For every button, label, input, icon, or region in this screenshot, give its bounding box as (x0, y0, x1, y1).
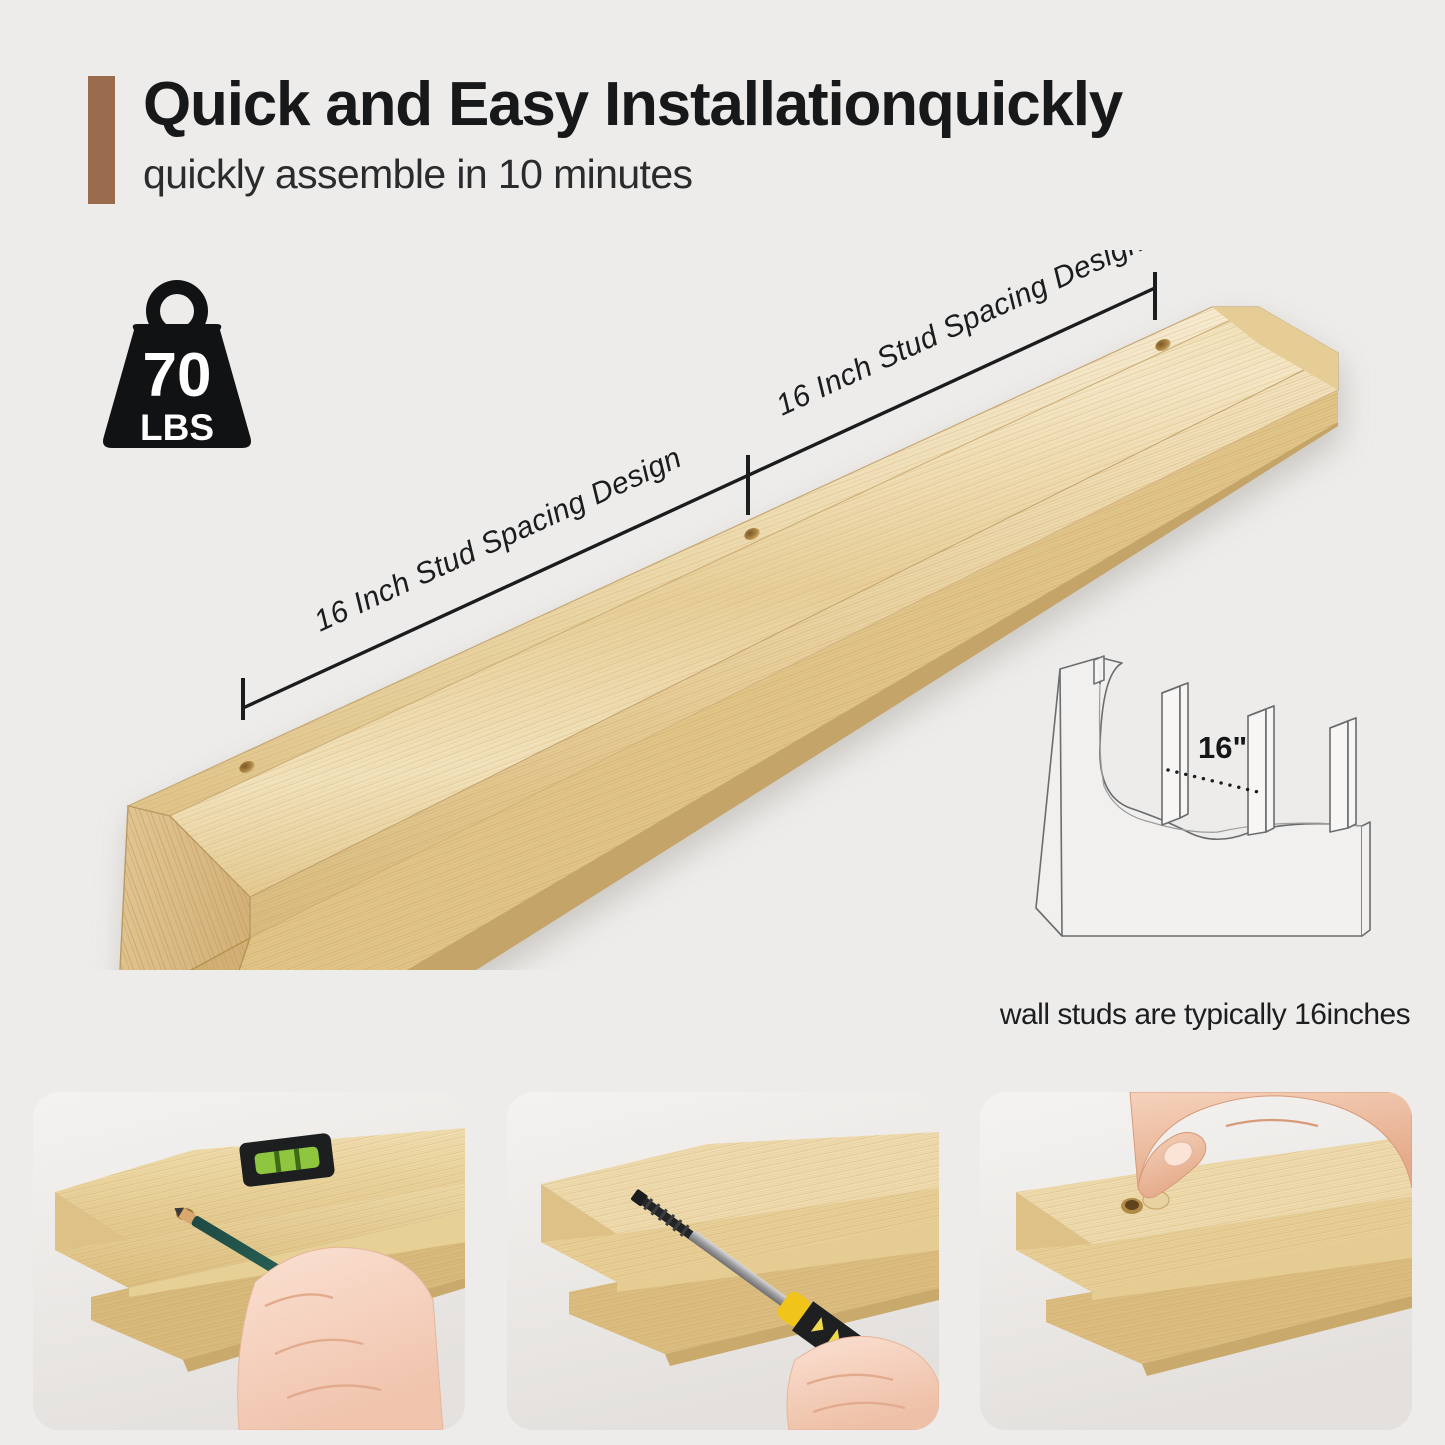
panel-drive-screws-image (507, 1092, 939, 1430)
measure-label: 16" (1198, 730, 1247, 765)
installation-steps (0, 1092, 1445, 1432)
stud (1330, 718, 1356, 832)
page-subtitle: quickly assemble in 10 minutes (143, 151, 1122, 198)
stud (1162, 683, 1188, 825)
stud (1248, 706, 1274, 835)
header: Quick and Easy Installationquickly quick… (88, 72, 1122, 204)
hand (238, 1247, 443, 1430)
panel-cover-caps[interactable] (980, 1092, 1412, 1430)
panel-drive-screws[interactable] (507, 1092, 939, 1430)
wall-stud-diagram: 16" (990, 636, 1390, 966)
stud (1094, 656, 1104, 684)
panel-mark-holes-image (33, 1092, 465, 1430)
panel-cover-caps-image (980, 1092, 1412, 1430)
accent-bar (88, 76, 115, 204)
page-title: Quick and Easy Installationquickly (143, 72, 1122, 137)
header-text-group: Quick and Easy Installationquickly quick… (143, 72, 1122, 198)
wall-panel (1036, 658, 1362, 936)
wall-right-thickness (1362, 822, 1370, 936)
wall-stud-svg: 16" (990, 636, 1390, 966)
stud-diagram-caption: wall studs are typically 16inches (985, 998, 1425, 1032)
panel-mark-holes[interactable] (33, 1092, 465, 1430)
